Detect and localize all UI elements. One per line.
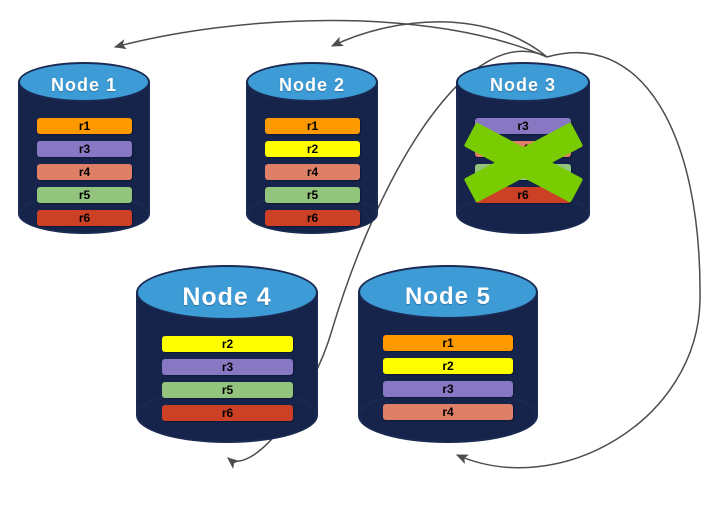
node-cylinder-2[interactable]: Node 2r1r2r4r5r6 [246, 62, 378, 234]
node-cylinder-4[interactable]: Node 4r2r3r5r6 [136, 265, 318, 443]
replica-row: r5 [475, 164, 571, 180]
replica-row: r2 [383, 358, 513, 374]
diagram-canvas: Node 1r1r3r4r5r6Node 2r1r2r4r5r6Node 3r3… [0, 0, 708, 508]
replica-row: r6 [265, 210, 360, 226]
replica-row: r6 [475, 187, 571, 203]
replica-row: r1 [37, 118, 132, 134]
node-cylinder-3[interactable]: Node 3r3r4r5r6 [456, 62, 590, 234]
node-title: Node 1 [18, 75, 150, 96]
replica-row: r4 [383, 404, 513, 420]
node-cylinder-1[interactable]: Node 1r1r3r4r5r6 [18, 62, 150, 234]
replica-row: r2 [162, 336, 293, 352]
replica-row: r6 [37, 210, 132, 226]
replica-row: r3 [162, 359, 293, 375]
replica-row: r5 [37, 187, 132, 203]
replica-row: r1 [383, 335, 513, 351]
replica-row: r4 [475, 141, 571, 157]
replica-row: r4 [265, 164, 360, 180]
replica-row: r2 [265, 141, 360, 157]
replica-row: r6 [162, 405, 293, 421]
replica-row: r5 [162, 382, 293, 398]
replica-row: r4 [37, 164, 132, 180]
replica-row: r1 [265, 118, 360, 134]
node-title: Node 5 [358, 283, 538, 311]
node-title: Node 4 [136, 283, 318, 312]
replica-row: r5 [265, 187, 360, 203]
node-title: Node 2 [246, 75, 378, 96]
replica-row: r3 [37, 141, 132, 157]
replica-row: r3 [383, 381, 513, 397]
node-cylinder-5[interactable]: Node 5r1r2r3r4 [358, 265, 538, 443]
replica-row: r3 [475, 118, 571, 134]
node-title: Node 3 [456, 75, 590, 96]
